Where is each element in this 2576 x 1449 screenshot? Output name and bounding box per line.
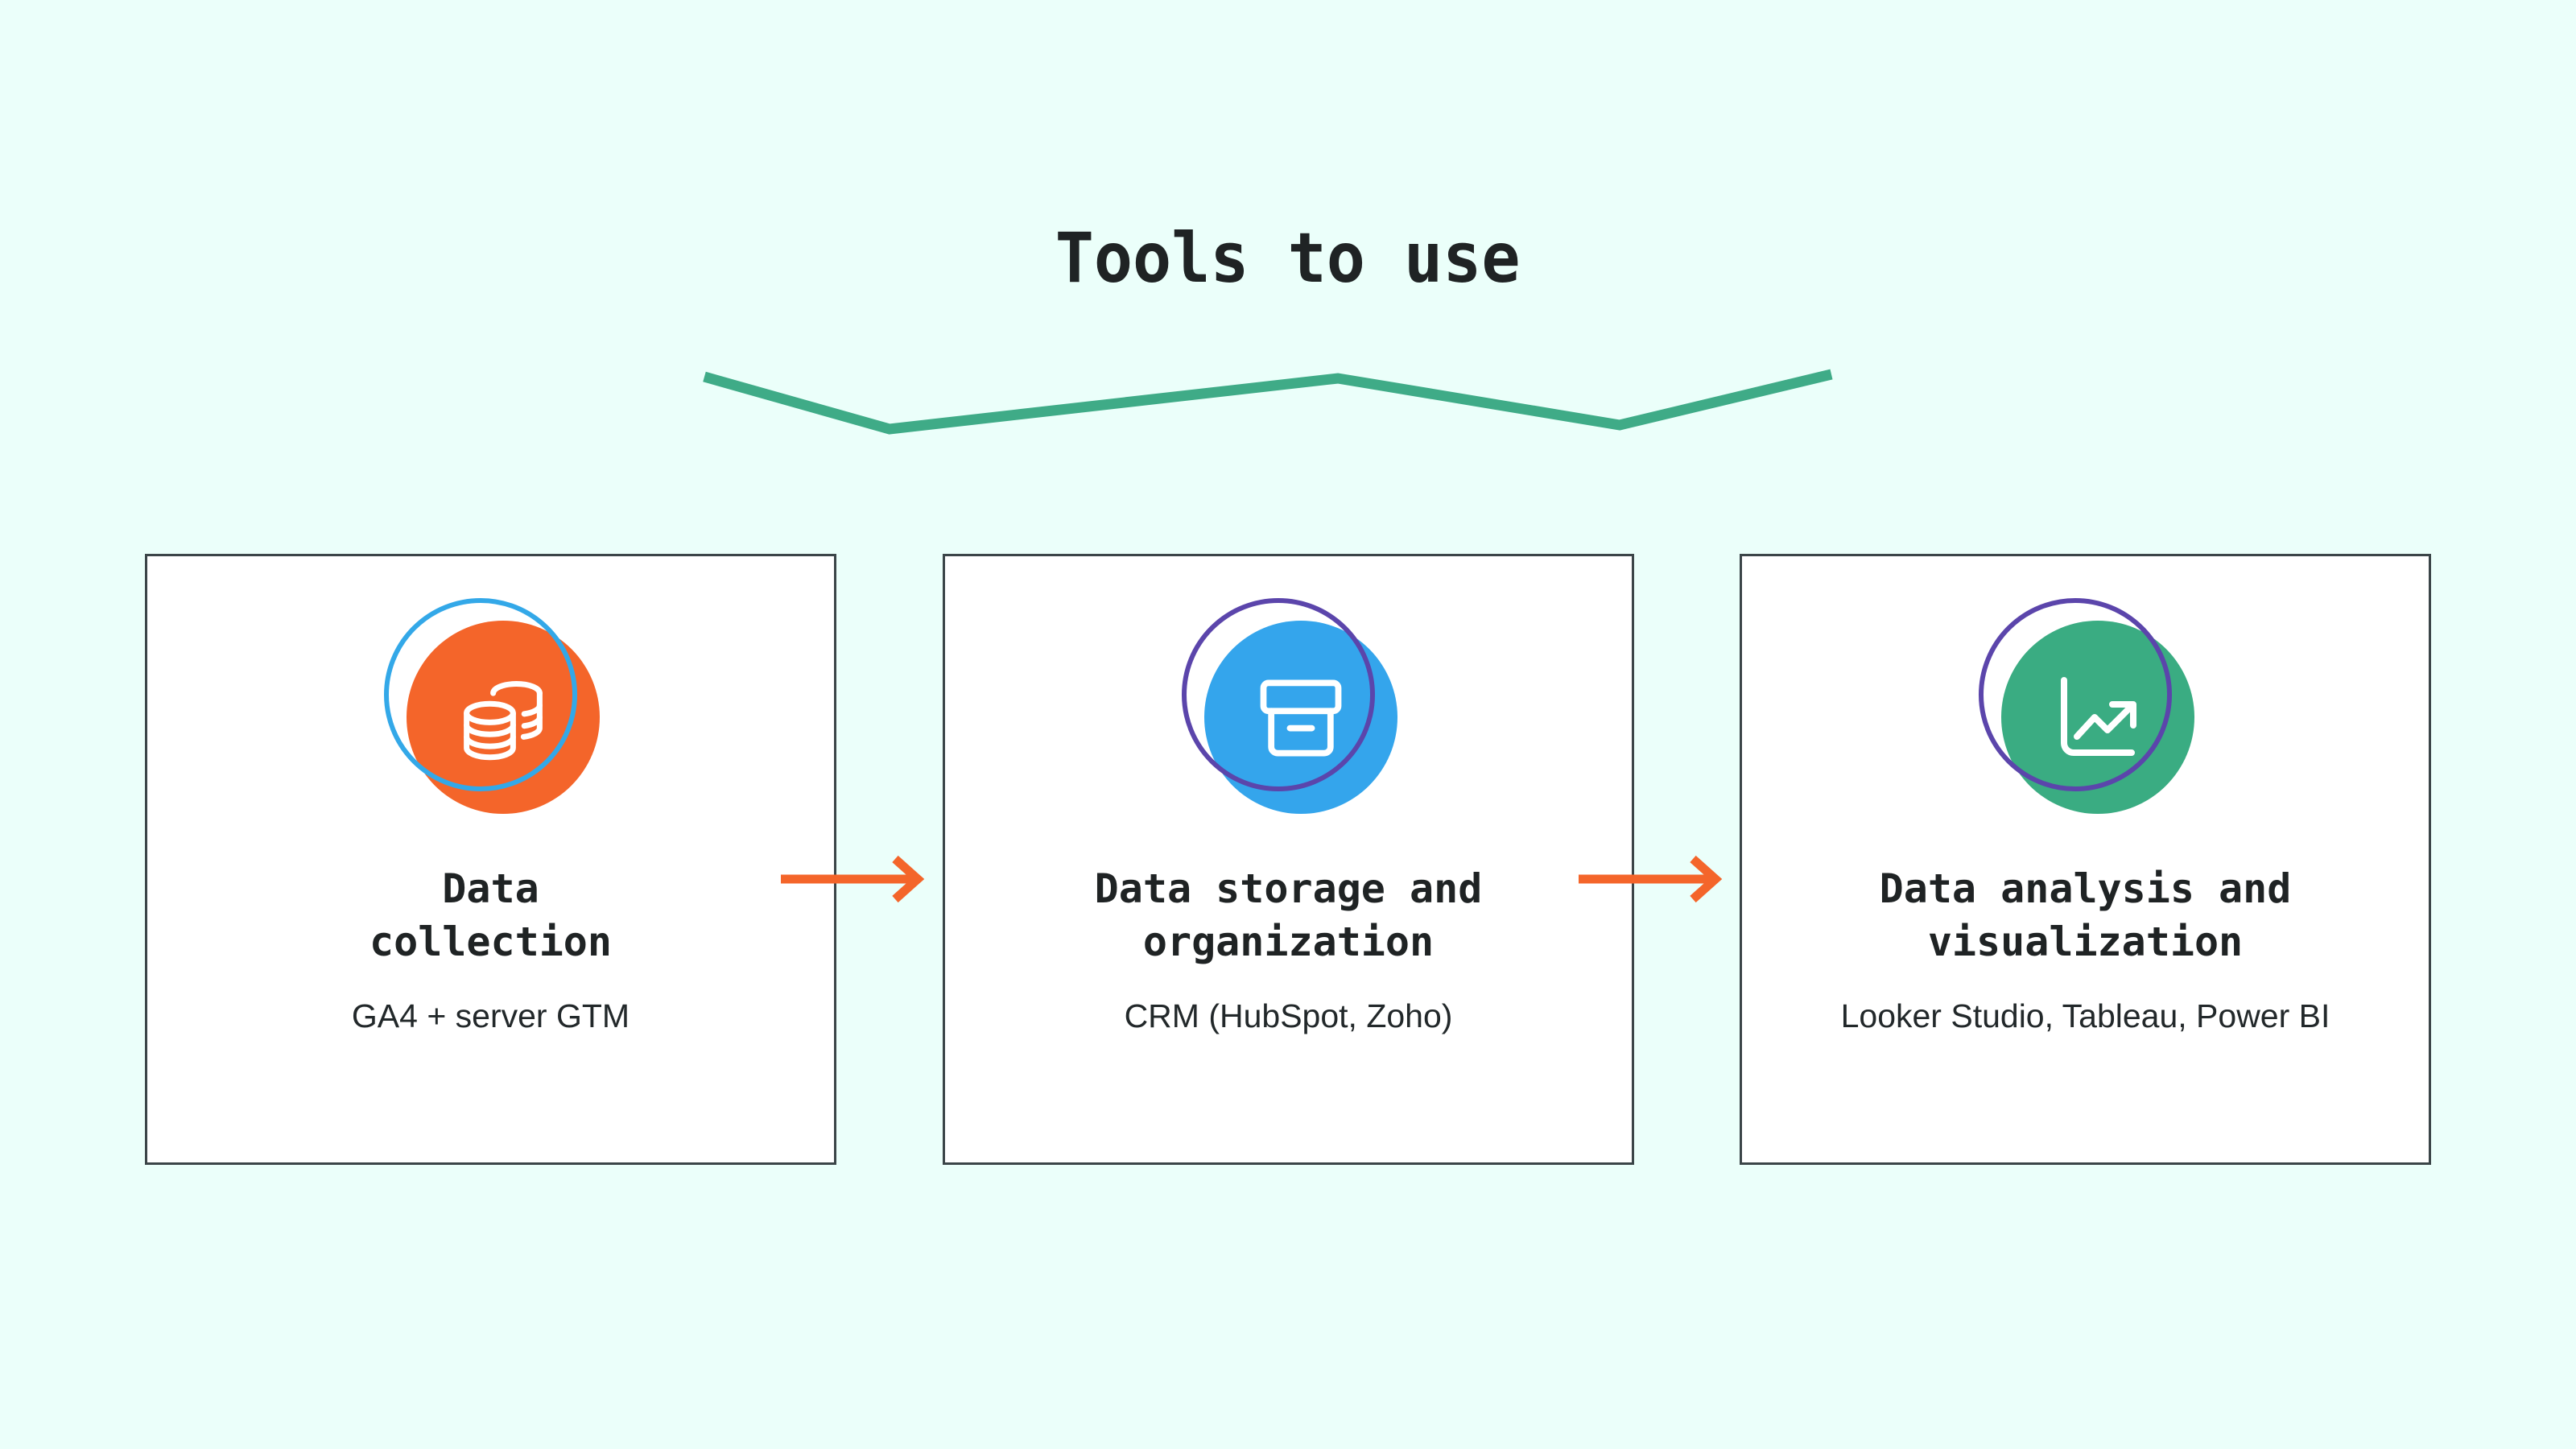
icon-badge-data-analysis: [1972, 592, 2199, 819]
card-title: Data analysis and visualization: [1769, 862, 2401, 968]
page-title: Tools to use: [1055, 224, 1521, 293]
icon-badge-data-storage: [1175, 592, 1402, 819]
database-stack-icon: [407, 621, 600, 814]
zigzag-underline-icon: [676, 346, 1868, 459]
card-subtitle: CRM (HubSpot, Zoho): [966, 996, 1612, 1037]
card-data-storage-and-organization[interactable]: Data storage and organization CRM (HubSp…: [943, 554, 1634, 1165]
page-title-container: Tools to use: [0, 224, 2576, 293]
card-title: Data storage and organization: [972, 862, 1604, 968]
card-title: Data collection: [175, 862, 807, 968]
card-data-analysis-and-visualization[interactable]: Data analysis and visualization Looker S…: [1740, 554, 2431, 1165]
card-subtitle: GA4 + server GTM: [168, 996, 814, 1037]
line-chart-up-icon: [2001, 621, 2194, 814]
icon-badge-data-collection: [378, 592, 605, 819]
slide-canvas: Tools to use: [0, 0, 2576, 1449]
card-subtitle: Looker Studio, Tableau, Power BI: [1763, 996, 2409, 1037]
archive-box-icon: [1204, 621, 1397, 814]
cards-row: Data collection GA4 + server GTM Data st…: [0, 554, 2576, 1166]
card-data-collection[interactable]: Data collection GA4 + server GTM: [145, 554, 836, 1165]
